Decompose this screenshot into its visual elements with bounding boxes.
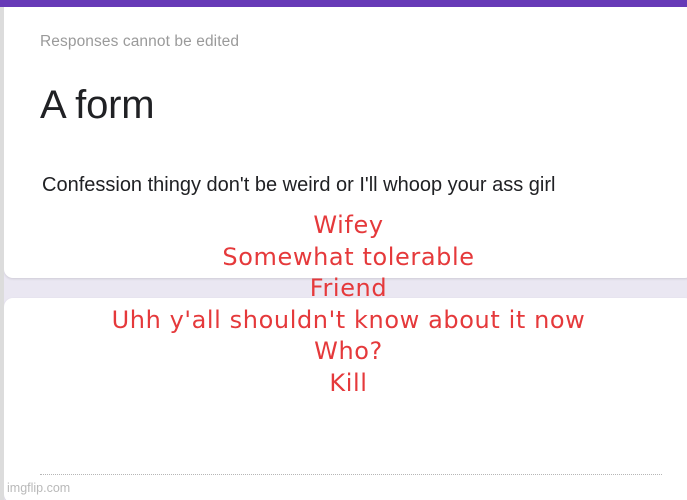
- screenshot-root: Responses cannot be edited A form Confes…: [0, 0, 687, 500]
- form-title: A form: [40, 85, 154, 125]
- form-accent-bar: [0, 0, 687, 7]
- page-left-gutter: [0, 7, 4, 500]
- form-description: Confession thingy don't be weird or I'll…: [42, 170, 642, 201]
- responses-locked-notice: Responses cannot be edited: [40, 33, 239, 51]
- form-question-card[interactable]: Say something what are your opinions on …: [4, 298, 687, 500]
- imgflip-watermark: imgflip.com: [7, 481, 70, 495]
- form-header-card: Responses cannot be edited A form Confes…: [4, 7, 687, 278]
- answer-input-underline[interactable]: [40, 474, 662, 475]
